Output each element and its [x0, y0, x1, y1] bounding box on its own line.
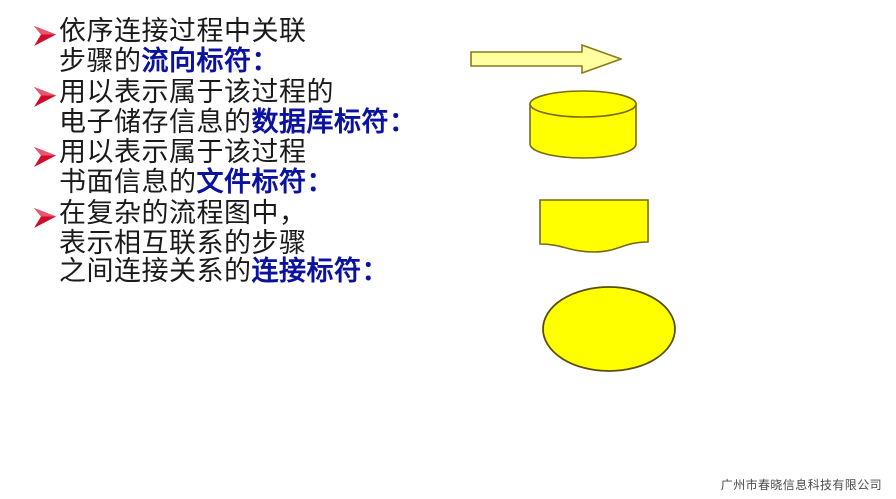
bullet-text: 表示相互联系的步骤: [59, 230, 307, 259]
connector-ellipse-symbol: [540, 284, 678, 374]
bullet-text: 用以表示属于该过程: [59, 139, 307, 168]
database-cylinder-symbol: [528, 90, 638, 160]
bullet-highlight-text: 流向标符: [142, 48, 252, 77]
bullet-line: 之间连接关系的 连接标符 ：: [32, 258, 512, 287]
bullet-highlight-text: 文件标符: [197, 169, 307, 198]
bullet-line: 用以表示属于该过程: [32, 139, 512, 169]
bullet-tail-text: ：: [389, 109, 417, 138]
bullet-text: 用以表示属于该过程的: [59, 79, 334, 108]
bullet-line: 电子储存信息的 数据库标符 ：: [32, 109, 512, 138]
bullet-item: 依序连接过程中关联 步骤的 流向标符 ：: [32, 18, 512, 77]
bullet-line: 用以表示属于该过程的: [32, 79, 512, 109]
document-symbol: [538, 198, 650, 254]
bullet-line: 依序连接过程中关联: [32, 18, 512, 48]
bullet-item: 用以表示属于该过程 书面信息的 文件标符 ：: [32, 139, 512, 198]
bullet-text: 步骤的: [59, 48, 142, 77]
bullet-line: 书面信息的 文件标符 ：: [32, 169, 512, 198]
bullet-tail-text: ：: [252, 48, 280, 77]
bullet-text: 依序连接过程中关联: [59, 18, 307, 47]
bullet-text: 之间连接关系的: [59, 258, 252, 287]
slide-canvas: 依序连接过程中关联 步骤的 流向标符 ： 用以表示属于该过程的 电子储存: [0, 0, 896, 499]
bullet-tail-text: ：: [307, 169, 335, 198]
flow-arrow-symbol: [470, 44, 622, 74]
bullet-item: 用以表示属于该过程的 电子储存信息的 数据库标符 ：: [32, 79, 512, 138]
bullet-list: 依序连接过程中关联 步骤的 流向标符 ： 用以表示属于该过程的 电子储存: [32, 18, 512, 289]
red-arrowhead-bullet-icon: [32, 142, 59, 172]
red-arrowhead-bullet-icon: [32, 21, 59, 51]
bullet-tail-text: ：: [362, 258, 390, 287]
bullet-text: 电子储存信息的: [59, 109, 252, 138]
red-arrowhead-bullet-icon: [32, 203, 59, 233]
bullet-line: 在复杂的流程图中，: [32, 200, 512, 230]
bullet-highlight-text: 连接标符: [252, 258, 362, 287]
bullet-line: 步骤的 流向标符 ：: [32, 48, 512, 77]
bullet-text: 在复杂的流程图中，: [59, 200, 307, 229]
bullet-item: 在复杂的流程图中， 表示相互联系的步骤 之间连接关系的 连接标符 ：: [32, 200, 512, 287]
bullet-text: 书面信息的: [59, 169, 197, 198]
bullet-line: 表示相互联系的步骤: [32, 230, 512, 259]
bullet-highlight-text: 数据库标符: [252, 109, 390, 138]
red-arrowhead-bullet-icon: [32, 82, 59, 112]
footer-company-credit: 广州市春晓信息科技有限公司: [721, 476, 882, 493]
